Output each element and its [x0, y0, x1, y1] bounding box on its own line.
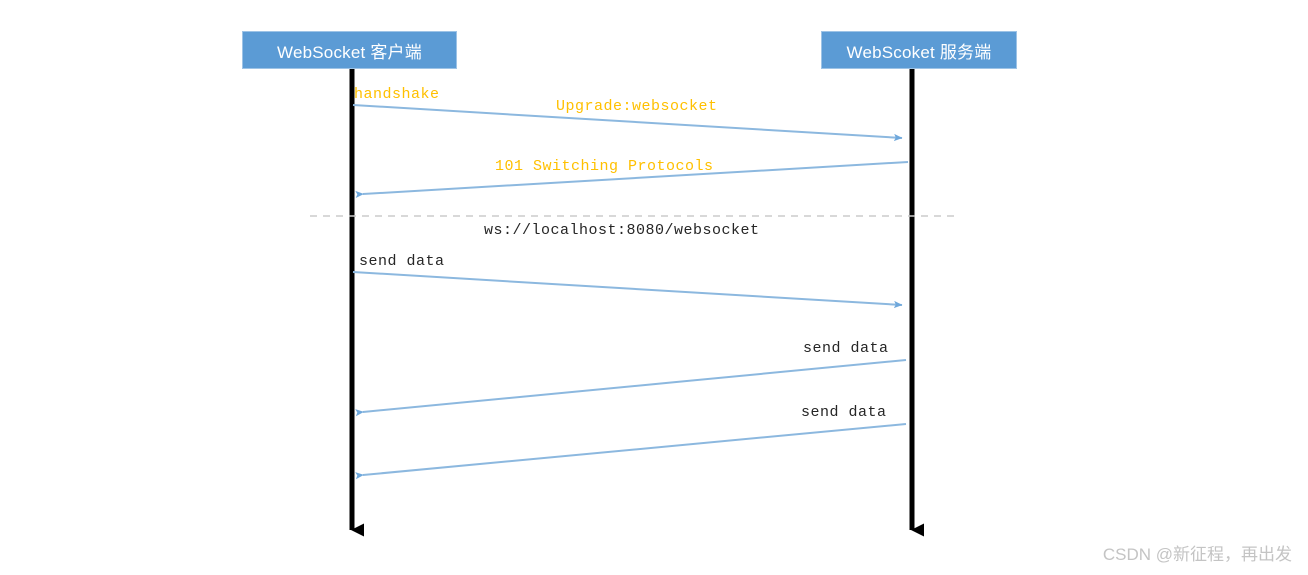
arrow-send-data-3 [363, 424, 906, 475]
diagram-vector-layer [0, 0, 1308, 575]
handshake-phase-label: handshake [354, 86, 440, 103]
message-label-send-data-2: send data [803, 340, 889, 357]
message-label-upgrade-websocket: Upgrade:websocket [556, 98, 718, 115]
actor-label-server: WebScoket 服务端 [847, 38, 992, 63]
actor-box-client[interactable]: WebSocket 客户端 [242, 31, 457, 69]
message-label-101-switching-protocols: 101 Switching Protocols [495, 158, 714, 175]
message-label-send-data-1: send data [359, 253, 445, 270]
sequence-diagram-canvas: WebSocket 客户端 WebScoket 服务端 handshake Up… [0, 0, 1308, 575]
message-label-send-data-3: send data [801, 404, 887, 421]
arrow-send-data-1 [353, 272, 902, 305]
actor-label-client: WebSocket 客户端 [277, 38, 422, 63]
csdn-watermark: CSDN @新征程，再出发 [1103, 540, 1292, 565]
actor-box-server[interactable]: WebScoket 服务端 [821, 31, 1017, 69]
connection-url-label: ws://localhost:8080/websocket [484, 222, 760, 239]
